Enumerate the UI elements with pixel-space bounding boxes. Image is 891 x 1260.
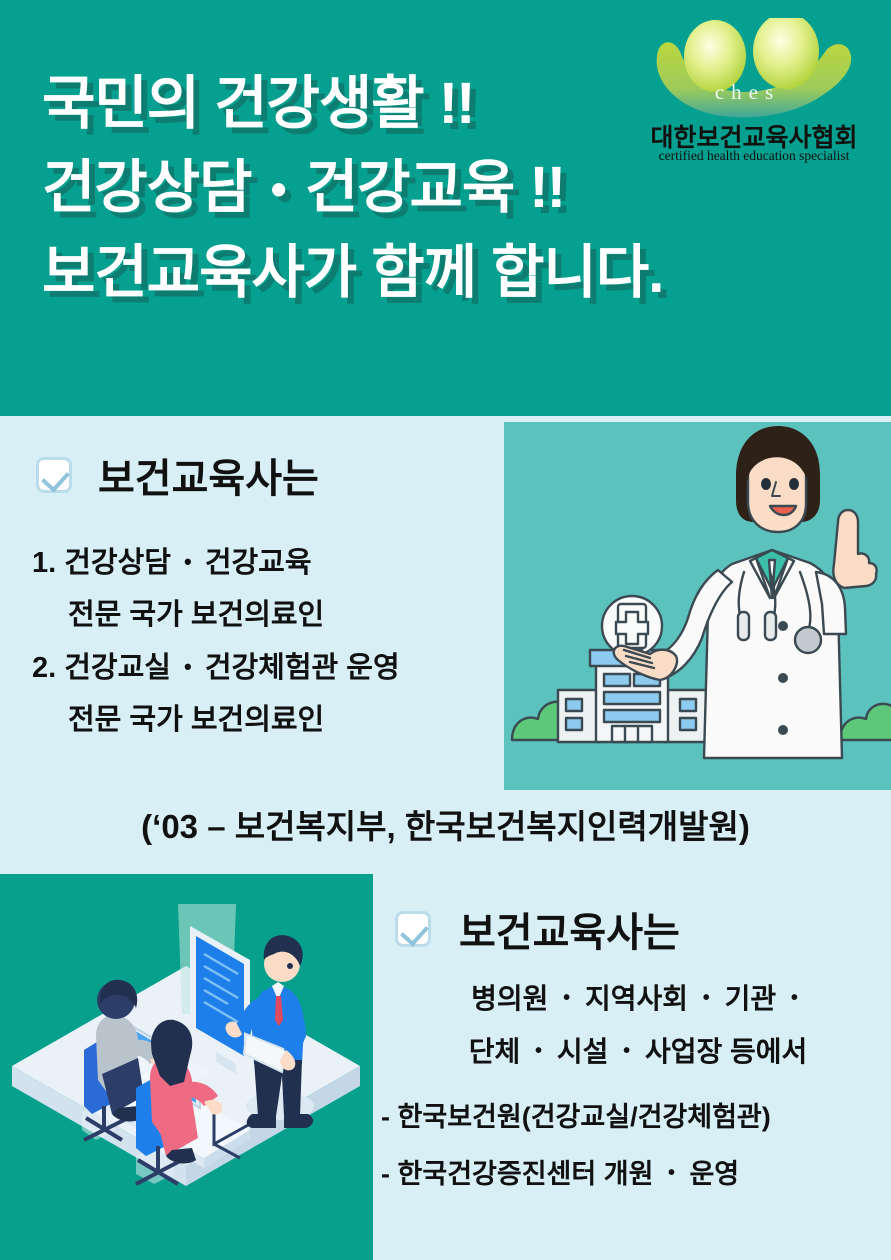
list-item: 1. 건강상담 • 건강교육 [32, 536, 502, 589]
hospital-window-wide [604, 692, 660, 704]
poster-root: 국민의 건강생활 !! 건강상담 • 건강교육 !! 보건교육사가 함께 합니다… [0, 0, 891, 1260]
list-item-number: 2. [32, 652, 56, 684]
list-item-number: 1. [32, 547, 56, 579]
list-item-sub: 전문 국가 보건의료인 [68, 599, 324, 631]
list-item: 전문 국가 보건의료인 [32, 694, 502, 746]
doctor-pointing-hand [833, 510, 876, 588]
venue-line: 단체 • 시설 • 사업장 등에서 [385, 1025, 891, 1078]
bullet-separator-icon: • [179, 549, 197, 574]
logo-wordmark: ches [639, 80, 849, 105]
hospital-window [566, 718, 582, 730]
note-dash: - [381, 1102, 390, 1132]
hospital-window-wide [604, 710, 660, 722]
list-item-sub: 전문 국가 보건의료인 [68, 704, 324, 736]
presenter-shoe-left [247, 1114, 276, 1128]
bullet-separator-icon: • [696, 987, 717, 1009]
hospital-window [680, 699, 696, 711]
title-line-2-pre: 건강상담 [42, 155, 251, 220]
section-one-heading: 보건교육사는 [98, 446, 319, 504]
hospital-entrance [612, 726, 652, 742]
venue-line: 병의원 • 지역사회 • 기관 • [385, 972, 891, 1025]
bush-right [840, 704, 891, 740]
doctor-hospital-illustration [504, 422, 891, 790]
list-item-post: 건강체험관 운영 [205, 652, 400, 684]
list-item: 2. 건강교실 • 건강체험관 운영 [32, 641, 502, 694]
section-one-heading-row: 보건교육사는 [36, 446, 319, 504]
title-line-1-text: 국민의 건강생활 [42, 71, 424, 136]
bullet-separator-icon: • [616, 1040, 637, 1062]
venue-item: 사업장 등에서 [645, 1036, 807, 1067]
venue-item: 지역사회 [585, 983, 688, 1014]
classroom-illustration-svg [0, 874, 373, 1260]
title-line-1: 국민의 건강생활 !! [42, 62, 682, 146]
section-two-heading: 보건교육사는 [459, 900, 680, 958]
venue-item: 병의원 [471, 983, 548, 1014]
list-item-pre: 건강상담 [64, 547, 171, 579]
title-block: 국민의 건강생활 !! 건강상담 • 건강교육 !! 보건교육사가 함께 합니다… [42, 62, 682, 315]
presenter-eye [287, 963, 293, 969]
section-two-venues: 병의원 • 지역사회 • 기관 • 단체 • 시설 • 사업장 등에서 [385, 972, 891, 1078]
checkbox-checked-icon [36, 457, 72, 493]
doctor-illustration-svg [504, 422, 891, 790]
title-line-2-post: 건강교육 [305, 155, 514, 220]
title-line-2-suffix: !! [529, 155, 564, 220]
doctor-eye-right [789, 478, 799, 490]
bullet-separator-icon: • [528, 1040, 549, 1062]
logo-name-english: certified health education specialist [639, 148, 869, 164]
stethoscope-earpiece [738, 612, 749, 640]
section-two-heading-row: 보건교육사는 [395, 900, 680, 958]
bullet-separator-icon: • [267, 163, 290, 215]
note-pre: 한국건강증진센터 개원 [398, 1159, 654, 1189]
coat-button [778, 673, 788, 683]
header-banner: 국민의 건강생활 !! 건강상담 • 건강교육 !! 보건교육사가 함께 합니다… [0, 0, 891, 416]
stethoscope-chestpiece [795, 627, 821, 653]
bullet-separator-icon: • [556, 987, 577, 1009]
note-line: - 한국건강증진센터 개원 • 운영 [381, 1145, 891, 1202]
source-caption: (‘03 – 보건복지부, 한국보건복지인력개발원) [0, 800, 891, 848]
hospital-window [566, 699, 582, 711]
bullet-separator-icon: • [784, 987, 805, 1009]
section-two: 보건교육사는 병의원 • 지역사회 • 기관 • 단체 • 시설 • 사업장 등… [373, 874, 891, 1260]
note-text: 한국보건원(건강교실/건강체험관) [398, 1102, 771, 1132]
list-item-pre: 건강교실 [64, 652, 171, 684]
checkbox-checked-icon [395, 911, 431, 947]
title-line-3: 보건교육사가 함께 합니다. [42, 231, 682, 315]
note-post: 운영 [689, 1159, 739, 1189]
logo-mark-icon [649, 18, 859, 123]
doctor-eye-left [761, 478, 771, 490]
venue-item: 기관 [725, 983, 777, 1014]
venue-item: 단체 [469, 1036, 521, 1067]
section-one-list: 1. 건강상담 • 건강교육 전문 국가 보건의료인 2. 건강교실 • 건강체… [32, 536, 502, 746]
ches-association-logo: ches 대한보건교육사협회 certified health educatio… [639, 18, 869, 170]
title-line-1-suffix: !! [439, 71, 474, 136]
note-line: - 한국보건원(건강교실/건강체험관) [381, 1089, 891, 1145]
stethoscope-earpiece [765, 612, 776, 640]
coat-button [778, 621, 788, 631]
presenter-shoe-right [284, 1114, 313, 1128]
classroom-training-illustration [0, 874, 373, 1260]
bullet-separator-icon: • [661, 1162, 682, 1184]
section-two-notes: - 한국보건원(건강교실/건강체험관) - 한국건강증진센터 개원 • 운영 [381, 1089, 891, 1202]
coat-button [778, 725, 788, 735]
hospital-window [680, 718, 696, 730]
title-line-3-text: 보건교육사가 함께 합니다. [42, 240, 663, 305]
bullet-separator-icon: • [179, 654, 197, 679]
note-dash: - [381, 1159, 390, 1189]
venue-item: 시설 [557, 1036, 609, 1067]
list-item-post: 건강교육 [205, 547, 312, 579]
title-line-2: 건강상담 • 건강교육 !! [42, 146, 682, 231]
hospital-window [604, 674, 630, 686]
list-item: 전문 국가 보건의료인 [32, 589, 502, 641]
